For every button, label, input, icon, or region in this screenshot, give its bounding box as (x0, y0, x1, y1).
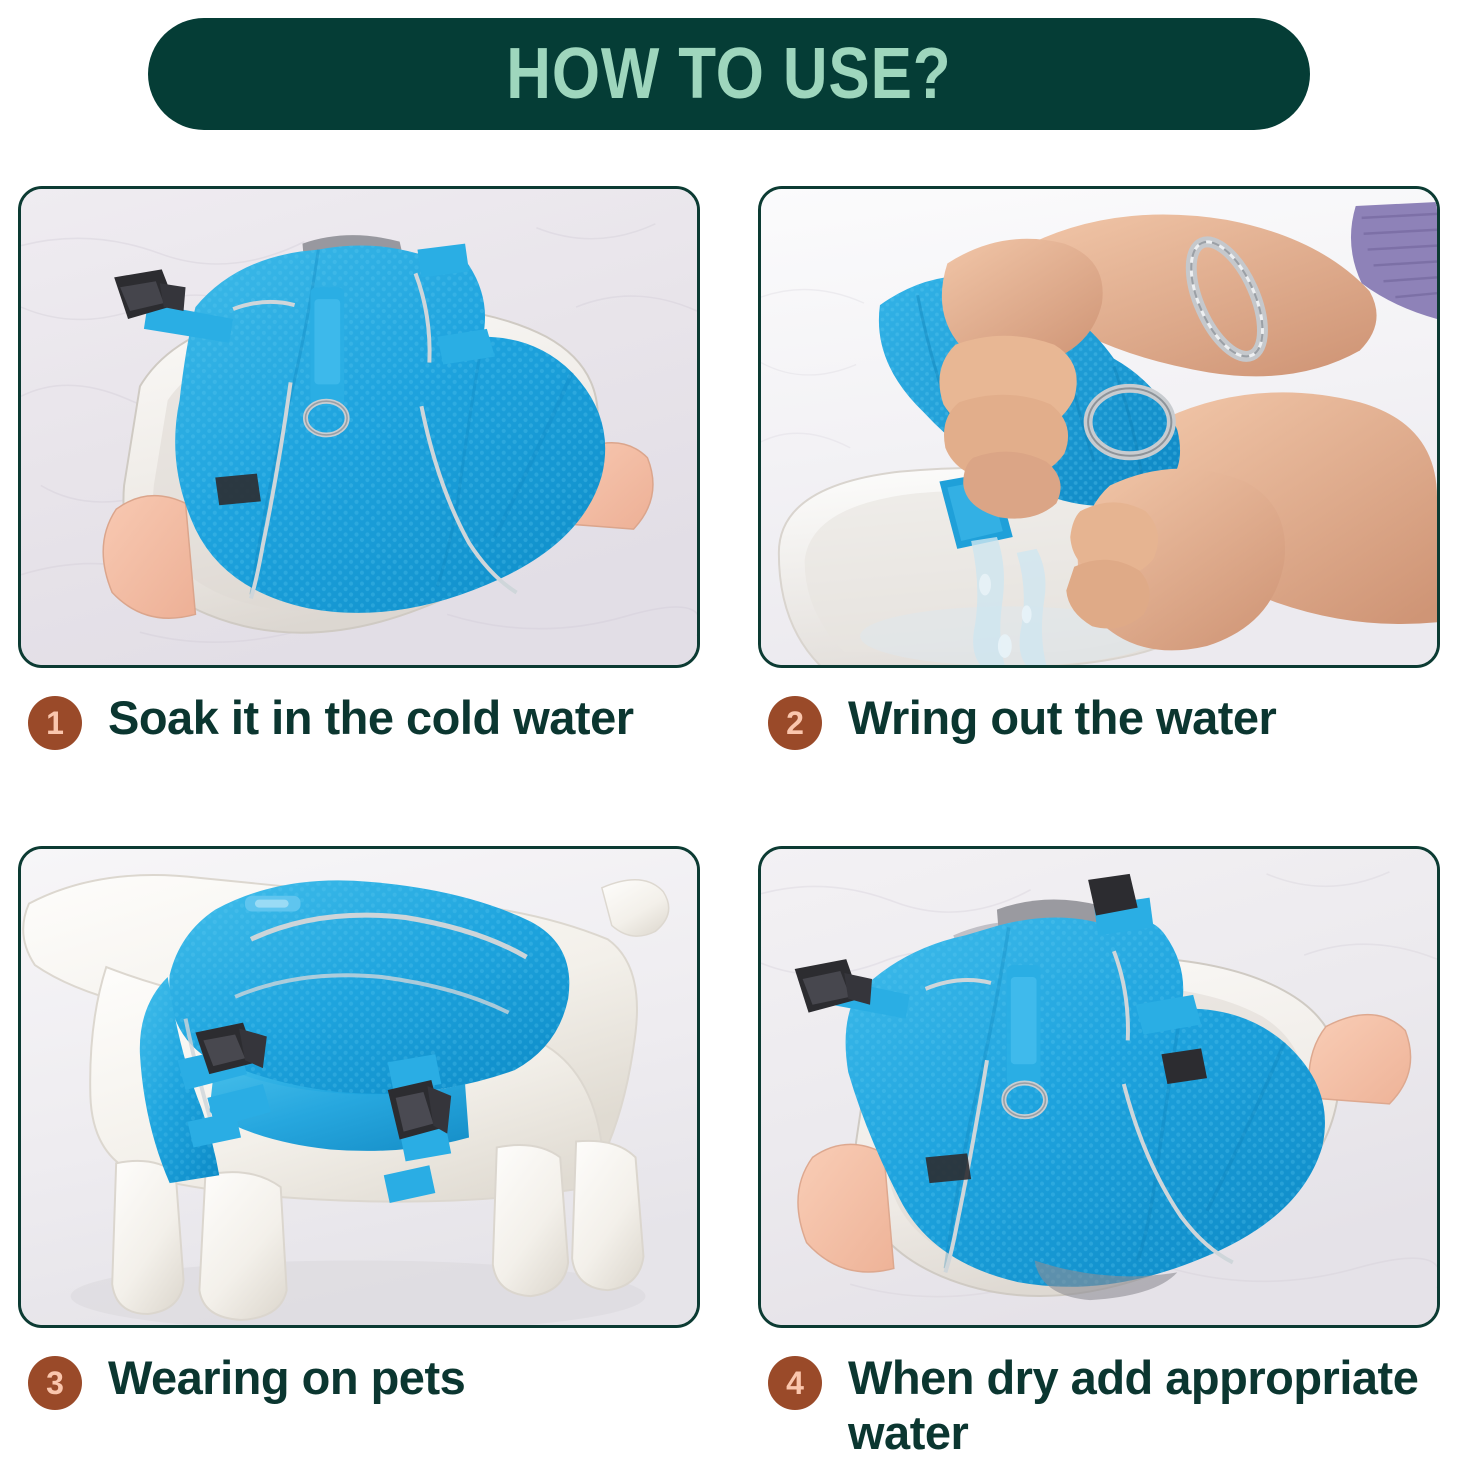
step-3-badge: 3 (28, 1356, 82, 1410)
step-3-photo-frame (18, 846, 700, 1328)
step-4-badge: 4 (768, 1356, 822, 1410)
step-4: 4 When dry add appropriate water (758, 846, 1440, 1458)
step-3: 3 Wearing on pets (18, 846, 700, 1410)
step-2-caption: Wring out the water (848, 690, 1276, 745)
dog-mannequin-wearing-harness-photo (21, 849, 697, 1325)
step-1-caption-row: 1 Soak it in the cold water (18, 690, 700, 750)
step-2: 2 Wring out the water (758, 186, 1440, 750)
step-2-caption-row: 2 Wring out the water (758, 690, 1440, 750)
harness-soaking-in-basin-photo (21, 189, 697, 665)
step-1-caption: Soak it in the cold water (108, 690, 634, 745)
how-to-use-infographic: HOW TO USE? (0, 0, 1458, 1458)
hands-wringing-mesh-over-bowl-photo (761, 189, 1437, 665)
step-1-photo-frame (18, 186, 700, 668)
step-3-caption-row: 3 Wearing on pets (18, 1350, 700, 1410)
step-1: 1 Soak it in the cold water (18, 186, 700, 750)
header-banner: HOW TO USE? (148, 18, 1310, 130)
step-4-caption: When dry add appropriate water (848, 1350, 1440, 1458)
step-3-caption: Wearing on pets (108, 1350, 465, 1405)
step-4-photo-frame (758, 846, 1440, 1328)
step-4-caption-row: 4 When dry add appropriate water (758, 1350, 1440, 1458)
step-2-badge: 2 (768, 696, 822, 750)
step-2-photo-frame (758, 186, 1440, 668)
step-1-badge: 1 (28, 696, 82, 750)
harness-in-basin-with-water-photo (761, 849, 1437, 1325)
page-title: HOW TO USE? (506, 38, 951, 110)
steps-grid: 1 Soak it in the cold water (0, 186, 1458, 1458)
